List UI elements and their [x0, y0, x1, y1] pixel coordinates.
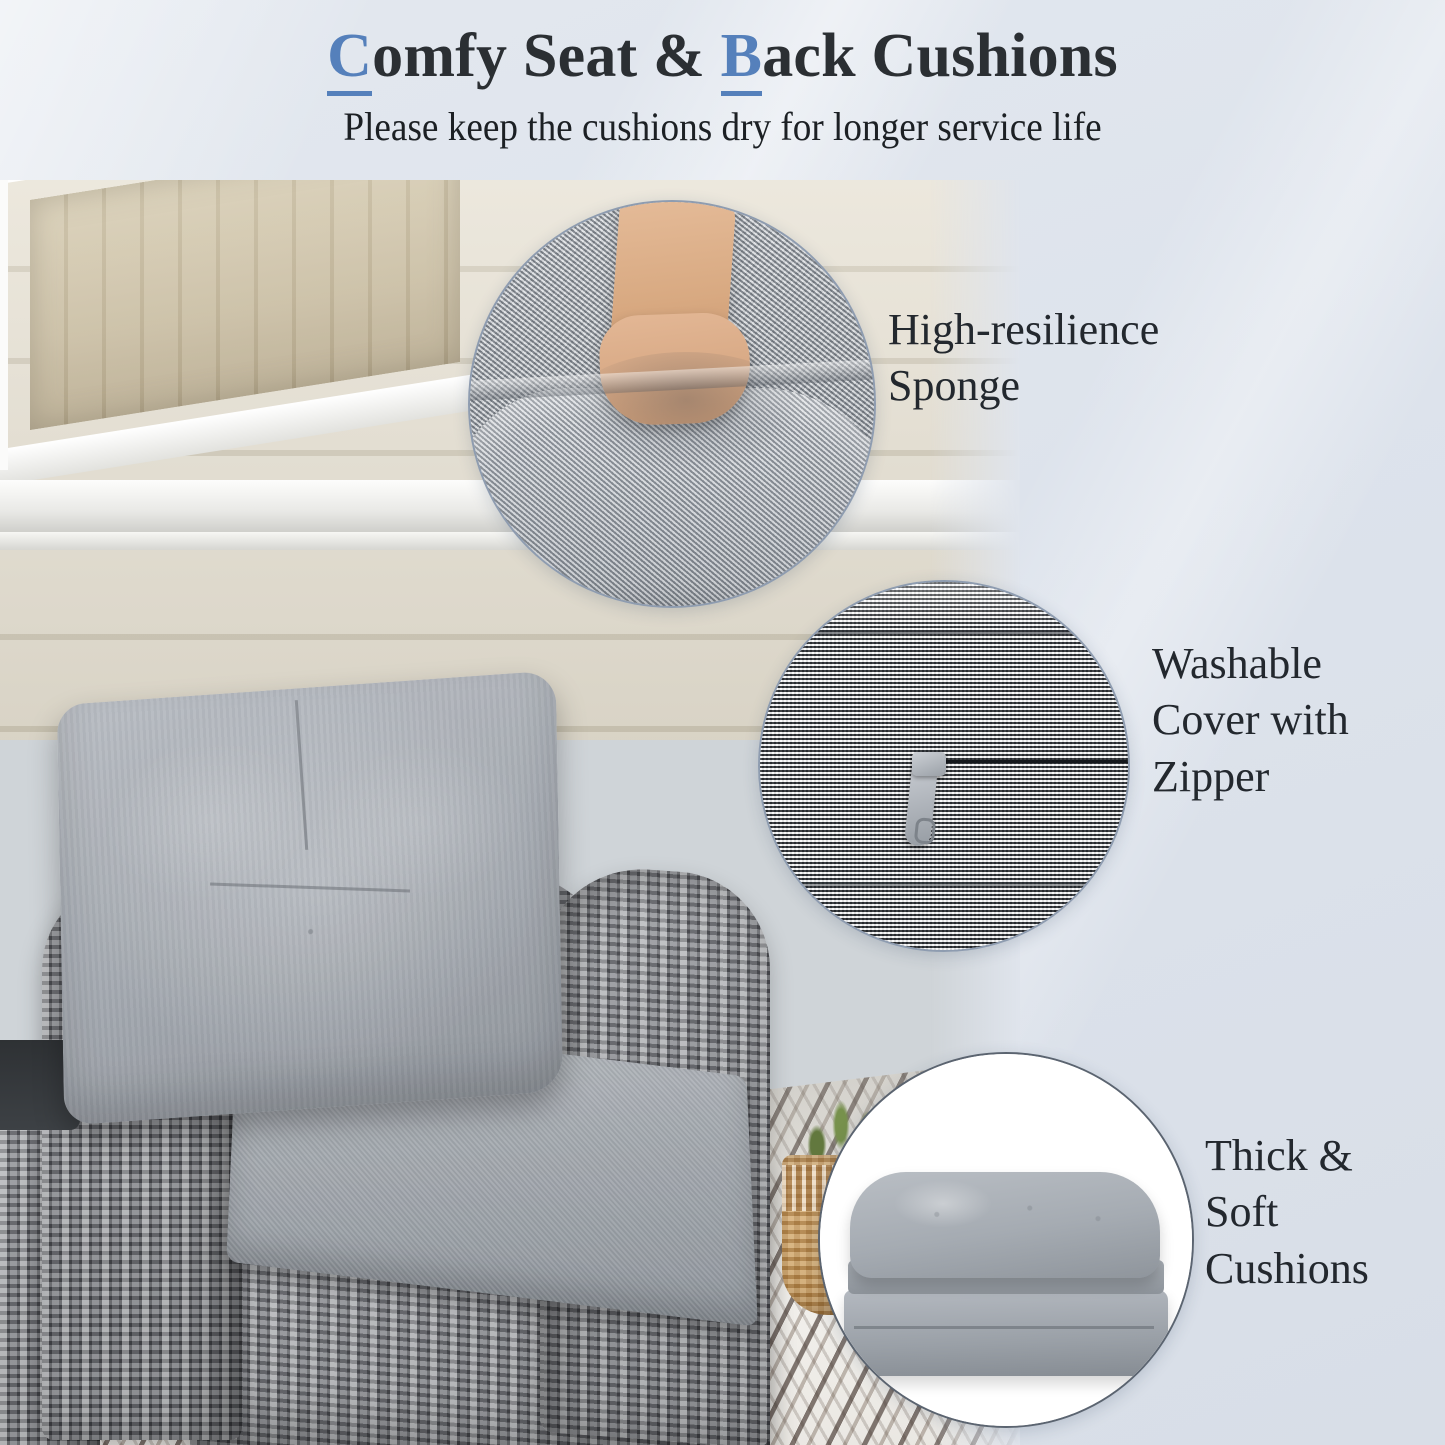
window-arch-trim: [0, 180, 490, 480]
page-subtitle: Please keep the cushions dry for longer …: [51, 89, 1395, 150]
top-cushion-tufting: [850, 1172, 1160, 1278]
zipper-slider: [912, 752, 946, 776]
callout-circle-thick-soft-cushions: [818, 1052, 1194, 1428]
back-cushion-tufting: [57, 670, 563, 1125]
arched-window: [0, 180, 490, 480]
callout-label-thick-soft-cushions: Thick & Soft Cushions: [1205, 1128, 1445, 1297]
bottom-cushion: [844, 1290, 1168, 1376]
label-line: Soft: [1205, 1184, 1445, 1240]
label-line: High-resilience: [888, 302, 1218, 358]
zipper-track: [946, 760, 1128, 763]
bottom-cushion-seam: [854, 1326, 1154, 1329]
infographic-page: Comfy Seat & Back Cushions Please keep t…: [0, 0, 1445, 1445]
cover-top-seam: [760, 630, 1128, 634]
label-line: Cover with: [1152, 692, 1445, 748]
cover-bottom-seam: [760, 882, 1128, 886]
callout-circle-high-resilience-sponge: [468, 200, 876, 608]
title-accent-b: B: [721, 22, 763, 96]
label-line: Thick &: [1205, 1128, 1445, 1184]
window-post: [0, 180, 8, 470]
title-segment-1: omfy Seat &: [372, 22, 721, 90]
label-line: Zipper: [1152, 749, 1445, 805]
callout-label-washable-cover-zipper: Washable Cover with Zipper: [1152, 636, 1445, 805]
label-line: Washable: [1152, 636, 1445, 692]
header: Comfy Seat & Back Cushions Please keep t…: [0, 0, 1445, 180]
page-title: Comfy Seat & Back Cushions: [0, 0, 1445, 89]
callout-circle-washable-cover-zipper: [758, 580, 1130, 952]
zipper-pull-hole: [914, 817, 937, 845]
cover-top-band: [760, 582, 1128, 630]
label-line: Cushions: [1205, 1241, 1445, 1297]
title-accent-c: C: [327, 22, 372, 96]
label-line: Sponge: [888, 358, 1218, 414]
callout-label-high-resilience-sponge: High-resilience Sponge: [888, 302, 1218, 415]
title-segment-2: ack Cushions: [762, 22, 1118, 90]
